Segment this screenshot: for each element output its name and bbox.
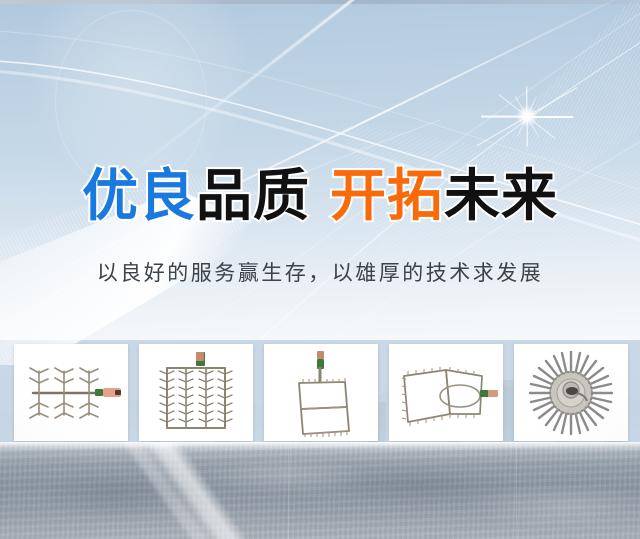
headline: 优良品质开拓未来 <box>0 165 640 229</box>
headline-part-1: 优良 <box>82 165 196 229</box>
promo-banner: 优良品质开拓未来 以良好的服务赢生存，以雄厚的技术求发展 <box>0 0 640 539</box>
rake-square-ring-icon <box>394 356 498 430</box>
subheadline: 以良好的服务赢生存，以雄厚的技术求发展 <box>0 258 640 288</box>
rake-multi-row-icon <box>19 357 123 429</box>
floor-light-blotch <box>200 456 370 496</box>
floor-seam-line <box>288 442 289 539</box>
rake-double-frame-icon <box>281 349 361 437</box>
product-card[interactable] <box>264 344 378 441</box>
product-card[interactable] <box>389 344 503 441</box>
headline-part-3: 开拓 <box>330 165 444 229</box>
concrete-floor <box>0 442 640 539</box>
floor-seam-line <box>516 442 517 539</box>
product-card[interactable] <box>139 344 253 441</box>
product-card-strip <box>14 344 628 441</box>
headline-part-2: 品质 <box>196 165 310 229</box>
headline-part-4: 未来 <box>444 165 558 229</box>
floor-horizon-glow <box>0 442 640 451</box>
product-card[interactable] <box>514 344 628 441</box>
rake-dense-frame-icon <box>153 350 239 436</box>
product-card[interactable] <box>14 344 128 441</box>
disc-radial-icon <box>527 349 615 437</box>
